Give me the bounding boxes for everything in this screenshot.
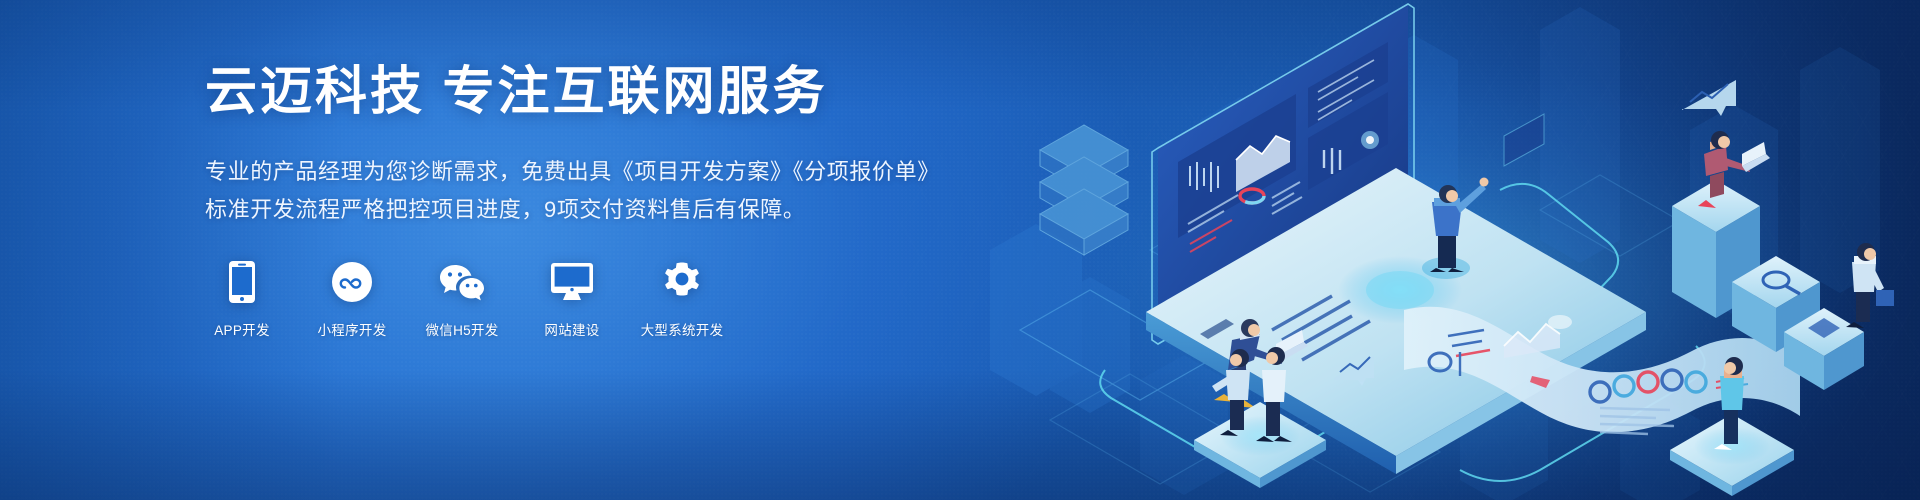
- service-icon-row: APP开发 小程序开发: [205, 259, 905, 339]
- banner-content: 云迈科技 专注互联网服务 专业的产品经理为您诊断需求，免费出具《项目开发方案》《…: [205, 62, 905, 339]
- isometric-illustration: [900, 0, 1920, 500]
- service-label-system: 大型系统开发: [641, 319, 724, 339]
- service-item-miniprogram[interactable]: 小程序开发: [315, 259, 389, 339]
- server-stack: [1040, 125, 1128, 255]
- gear-icon: [662, 259, 702, 305]
- service-label-website: 网站建设: [544, 319, 599, 339]
- subtitle-line-1: 专业的产品经理为您诊断需求，免费出具《项目开发方案》《分项报价单》: [205, 153, 905, 191]
- page-title: 云迈科技 专注互联网服务: [205, 62, 905, 123]
- hero-banner: 云迈科技 专注互联网服务 专业的产品经理为您诊断需求，免费出具《项目开发方案》《…: [0, 0, 1920, 500]
- subtitle-line-2: 标准开发流程严格把控项目进度，9项交付资料售后有保障。: [205, 191, 905, 229]
- mini-program-icon: [332, 259, 372, 305]
- monitor-icon: [551, 259, 593, 305]
- service-label-miniprogram: 小程序开发: [318, 319, 387, 339]
- service-label-app: APP开发: [214, 319, 270, 339]
- service-item-wechat[interactable]: 微信H5开发: [425, 259, 499, 339]
- service-item-system[interactable]: 大型系统开发: [645, 259, 719, 339]
- mobile-phone-icon: [229, 259, 255, 305]
- service-label-wechat: 微信H5开发: [425, 319, 498, 339]
- service-item-website[interactable]: 网站建设: [535, 259, 609, 339]
- wechat-icon: [439, 259, 485, 305]
- service-item-app[interactable]: APP开发: [205, 259, 279, 339]
